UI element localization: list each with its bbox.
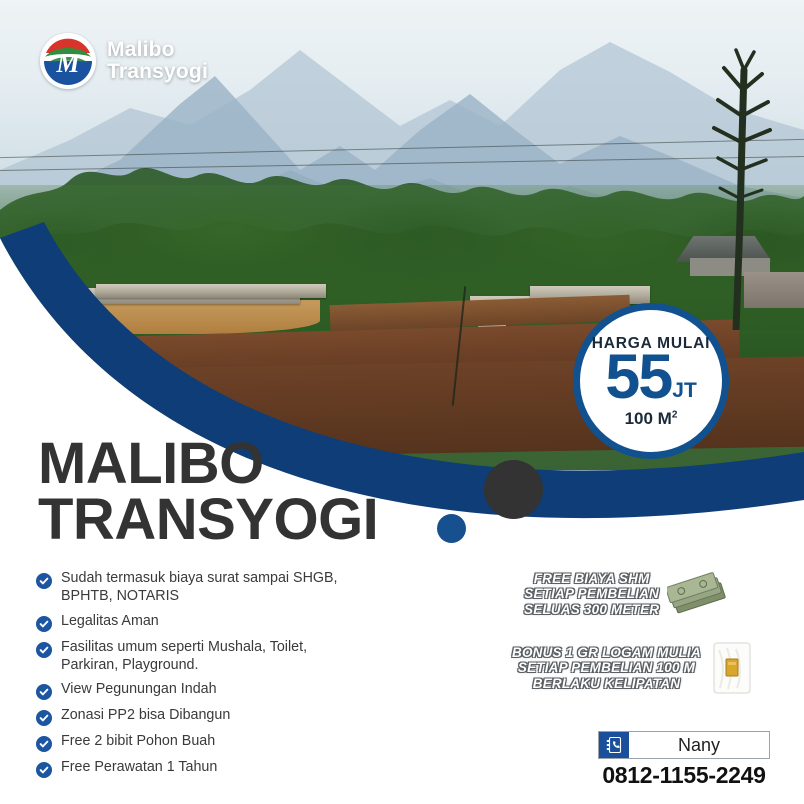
title-line-1: MALIBO	[38, 436, 378, 492]
contact-block[interactable]: Nany 0812-1155-2249	[598, 731, 770, 789]
list-item: Fasilitas umum seperti Mushala, Toilet, …	[36, 639, 366, 675]
money-stack-icon	[667, 568, 729, 620]
promo-text: BONUS 1 GR LOGAM MULIA SETIAP PEMBELIAN …	[512, 645, 701, 690]
water-pond	[0, 300, 320, 334]
poster-canvas: M Malibo Transyogi HARGA MULAI 55 JT 100…	[0, 0, 804, 804]
dead-tree	[674, 30, 794, 330]
check-circle-icon	[36, 762, 52, 778]
promo-line-2: SETIAP PEMBELIAN 100 M	[512, 660, 701, 675]
feature-text: Fasilitas umum seperti Mushala, Toilet, …	[61, 639, 366, 675]
malibo-circle-logo-icon: M	[40, 33, 96, 89]
price-badge: HARGA MULAI 55 JT 100 M2	[573, 303, 729, 459]
title-line-2: TRANSYOGI	[38, 492, 378, 548]
brand-logo: M Malibo Transyogi	[40, 33, 208, 89]
promo-line-2: SETIAP PEMBELIAN	[524, 586, 659, 601]
price-area-sup: 2	[672, 409, 678, 420]
price-unit: JT	[672, 382, 697, 400]
promo-badge-shm: FREE BIAYA SHM SETIAP PEMBELIAN SELUAS 3…	[524, 568, 729, 620]
promo-line-1: FREE BIAYA SHM	[524, 571, 659, 586]
feature-text: Legalitas Aman	[61, 613, 159, 631]
brand-name: Malibo Transyogi	[107, 39, 208, 83]
check-circle-icon	[36, 736, 52, 752]
check-circle-icon	[36, 710, 52, 726]
check-circle-icon	[36, 616, 52, 632]
check-circle-icon	[36, 684, 52, 700]
svg-text:M: M	[55, 49, 80, 78]
price-main: 55 JT	[605, 351, 697, 405]
promo-line-3: BERLAKU KELIPATAN	[512, 676, 701, 691]
price-area: 100 M2	[625, 409, 678, 429]
brand-name-line1: Malibo	[107, 39, 208, 61]
features-list: Sudah termasuk biaya surat sampai SHGB, …	[36, 570, 366, 785]
promo-badge-logam-mulia: BONUS 1 GR LOGAM MULIA SETIAP PEMBELIAN …	[512, 640, 755, 696]
page-title: MALIBO TRANSYOGI	[38, 436, 378, 547]
contact-name: Nany	[629, 732, 769, 758]
contact-phone[interactable]: 0812-1155-2249	[598, 762, 770, 789]
check-circle-icon	[36, 573, 52, 589]
price-amount: 55	[605, 351, 671, 405]
price-area-value: 100 M	[625, 409, 672, 428]
check-circle-icon	[36, 642, 52, 658]
feature-text: Sudah termasuk biaya surat sampai SHGB, …	[61, 570, 366, 606]
feature-text: Free Perawatan 1 Tahun	[61, 759, 217, 777]
contact-name-bar[interactable]: Nany	[598, 731, 770, 759]
promo-line-3: SELUAS 300 METER	[524, 602, 659, 617]
list-item: Free Perawatan 1 Tahun	[36, 759, 366, 778]
list-item: Legalitas Aman	[36, 613, 366, 632]
feature-text: View Pegunungan Indah	[61, 681, 217, 699]
list-item: Sudah termasuk biaya surat sampai SHGB, …	[36, 570, 366, 606]
list-item: Zonasi PP2 bisa Dibangun	[36, 707, 366, 726]
promo-line-1: BONUS 1 GR LOGAM MULIA	[512, 645, 701, 660]
feature-text: Zonasi PP2 bisa Dibangun	[61, 707, 230, 725]
retaining-wall	[96, 284, 326, 298]
list-item: Free 2 bibit Pohon Buah	[36, 733, 366, 752]
gold-bar-card-icon	[709, 640, 755, 696]
decorative-dot-blue	[437, 514, 466, 543]
promo-text: FREE BIAYA SHM SETIAP PEMBELIAN SELUAS 3…	[524, 571, 659, 616]
feature-text: Free 2 bibit Pohon Buah	[61, 733, 215, 751]
phone-book-icon	[599, 732, 629, 758]
brand-name-line2: Transyogi	[107, 61, 208, 83]
list-item: View Pegunungan Indah	[36, 681, 366, 700]
decorative-dot-dark	[484, 460, 543, 519]
